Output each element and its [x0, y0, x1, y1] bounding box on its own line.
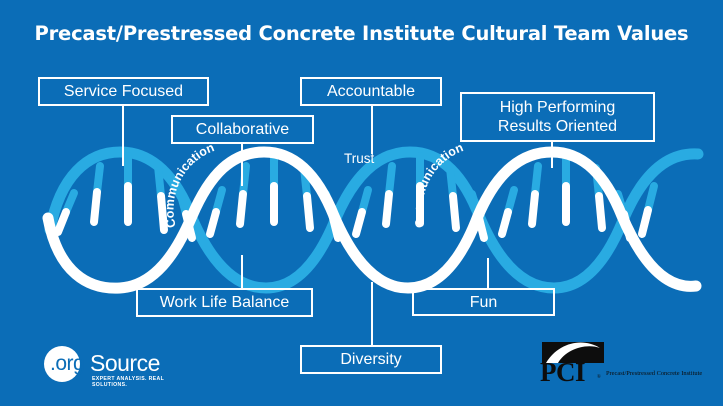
orgsource-word-org: .org	[50, 352, 84, 376]
leader-line-service-focused	[122, 106, 124, 166]
helix-rungs	[58, 156, 654, 238]
leader-line-accountable	[371, 106, 373, 154]
callout-fun[interactable]: Fun	[412, 288, 555, 316]
pci-logo: PCI ® Precast/Prestressed Concrete Insti…	[540, 339, 712, 385]
callout-accountable[interactable]: Accountable	[300, 77, 442, 106]
leader-line-work-life-balance	[241, 255, 243, 288]
slide-canvas: Precast/Prestressed Concrete Institute C…	[0, 0, 723, 406]
leader-line-fun	[487, 258, 489, 288]
orgsource-word-source: Source	[90, 350, 160, 377]
pci-registered-mark: ®	[597, 375, 601, 380]
leader-line-high-performing	[551, 142, 553, 168]
helix-label-trust: Trust	[344, 151, 374, 166]
pci-letters: PCI	[540, 357, 585, 388]
pci-tagline: Precast/Prestressed Concrete Institute	[606, 370, 702, 377]
callout-high-performing-results-oriented[interactable]: High Performing Results Oriented	[460, 92, 655, 142]
orgsource-logo: .org Source EXPERT ANALYSIS. REAL SOLUTI…	[44, 344, 194, 388]
leader-line-collaborative	[241, 144, 243, 186]
orgsource-tagline: EXPERT ANALYSIS. REAL SOLUTIONS.	[92, 376, 194, 388]
leader-line-diversity	[371, 282, 373, 345]
callout-service-focused[interactable]: Service Focused	[38, 77, 209, 106]
callout-work-life-balance[interactable]: Work Life Balance	[136, 288, 313, 317]
callout-collaborative[interactable]: Collaborative	[171, 115, 314, 144]
callout-diversity[interactable]: Diversity	[300, 345, 442, 374]
